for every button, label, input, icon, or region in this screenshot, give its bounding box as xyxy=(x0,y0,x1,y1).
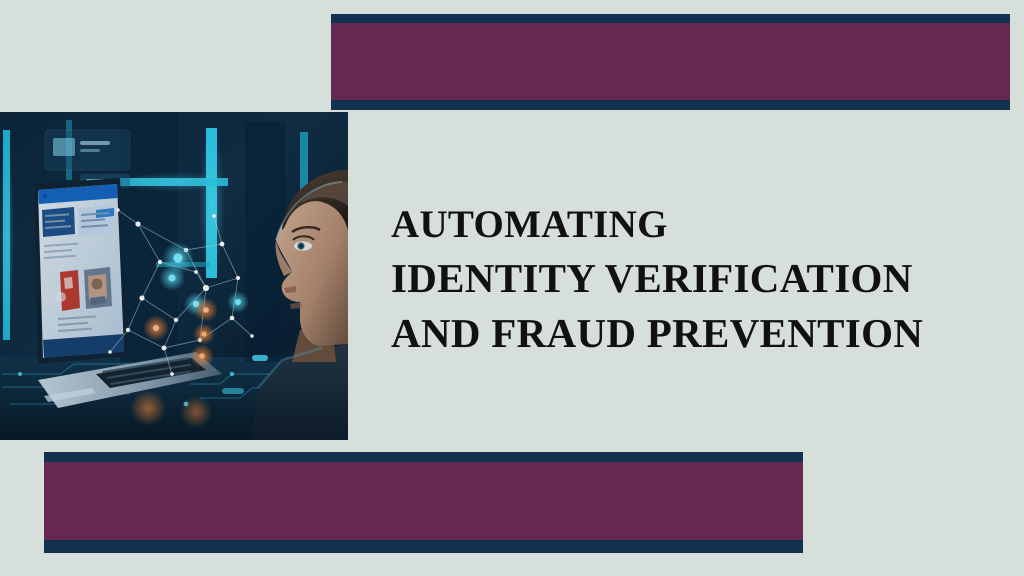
banner-bottom-edge xyxy=(331,100,1010,110)
banner-top-edge xyxy=(331,14,1010,23)
hero-photo xyxy=(0,112,348,440)
title-line-2: IDENTITY VERIFICATION xyxy=(391,251,991,306)
presentation-slide: AUTOMATING IDENTITY VERIFICATION AND FRA… xyxy=(0,0,1024,576)
title-line-3: AND FRAUD PREVENTION xyxy=(391,306,991,361)
hero-photo-artwork xyxy=(0,112,348,440)
banner-fill xyxy=(331,23,1010,100)
banner-fill xyxy=(44,462,803,540)
bottom-decorative-banner xyxy=(44,452,803,553)
banner-top-edge xyxy=(44,452,803,462)
top-decorative-banner xyxy=(331,14,1010,110)
banner-bottom-edge xyxy=(44,540,803,553)
page-title: AUTOMATING IDENTITY VERIFICATION AND FRA… xyxy=(391,199,991,361)
title-line-1: AUTOMATING xyxy=(391,199,991,251)
